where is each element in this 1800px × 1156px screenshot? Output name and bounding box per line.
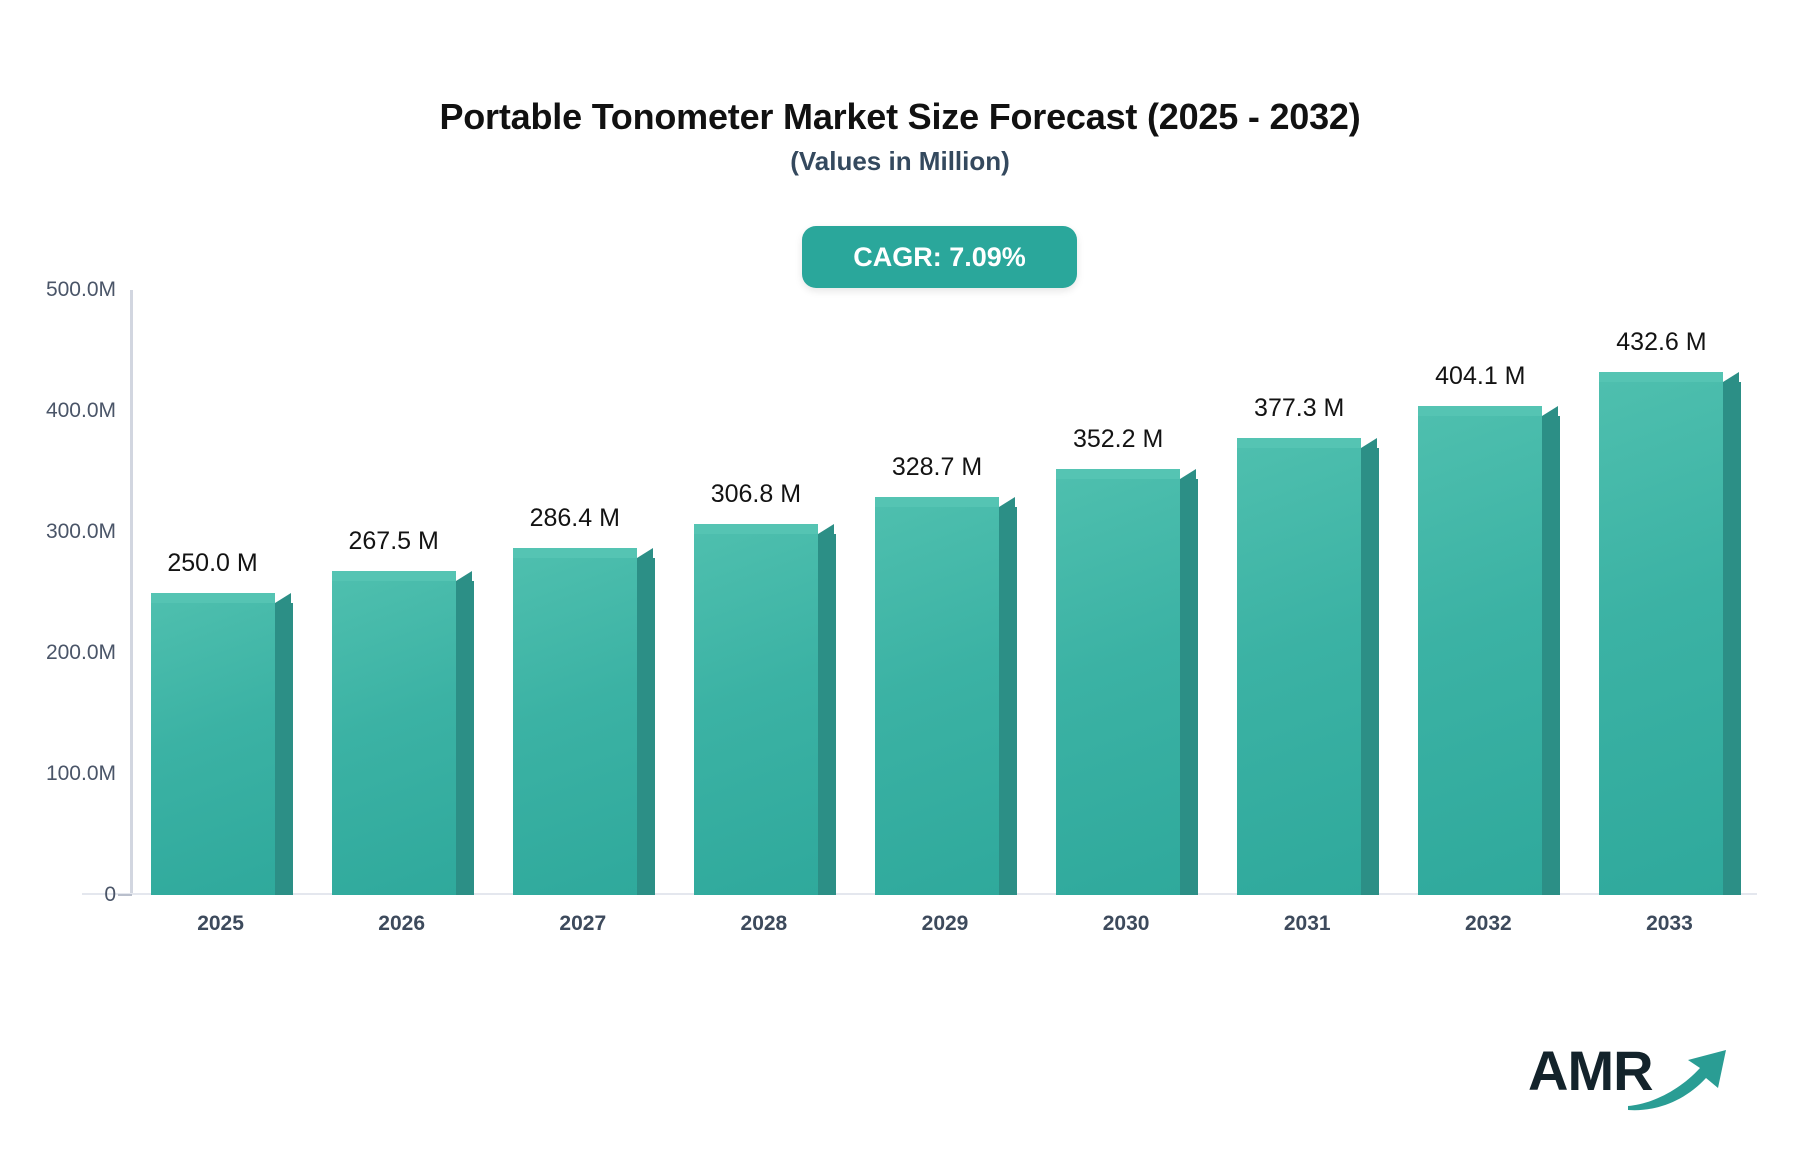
bar[interactable] [1418,406,1542,895]
bar-bevel [1723,372,1739,382]
bar[interactable] [332,571,456,895]
bar-side-face [1542,416,1560,895]
bar-side-face [1723,382,1741,895]
bar[interactable] [875,497,999,895]
bar-top-face [875,497,999,507]
bar-top-face [1418,406,1542,416]
bar-side-face [1361,448,1379,895]
bar-bevel [1361,438,1377,448]
bar-bevel [1542,406,1558,416]
bar-top-face [332,571,456,581]
bar[interactable] [513,548,637,895]
bar-side-face [456,581,474,895]
bar-bevel [1180,469,1196,479]
bar-side-face [275,603,293,896]
bar-side-face [637,558,655,895]
x-axis-tick-label: 2033 [1559,912,1779,936]
amr-logo: AMR [1528,1038,1728,1114]
bar-front-face [1418,416,1542,895]
y-axis-tick-label: 500.0M [8,278,116,302]
bar-side-face [818,534,836,895]
bar-top-face [694,524,818,534]
y-axis-tick-label: 300.0M [8,520,116,544]
bar-value-label: 352.2 M [1008,425,1228,454]
bar-bevel [999,497,1015,507]
bar-value-label: 377.3 M [1189,394,1409,423]
bar-side-face [1180,479,1198,895]
y-axis-tick-label: 200.0M [8,641,116,665]
bar[interactable] [1056,469,1180,895]
y-axis-tick-label: 100.0M [8,762,116,786]
y-axis-tick-label: 0 [8,883,116,907]
bar-value-label: 432.6 M [1551,328,1771,357]
bar-top-face [151,593,275,603]
bar-front-face [1599,382,1723,895]
bar-front-face [151,603,275,896]
bar-side-face [999,507,1017,895]
bar-front-face [1237,448,1361,895]
bar-bevel [456,571,472,581]
bar-value-label: 306.8 M [646,480,866,509]
bar[interactable] [694,524,818,895]
bar-front-face [513,558,637,895]
rising-arrow-icon [1626,1046,1730,1112]
bar-value-label: 404.1 M [1370,362,1590,391]
bar-front-face [694,534,818,895]
bar-bevel [818,524,834,534]
bar-value-label: 286.4 M [465,504,685,533]
bar-top-face [513,548,637,558]
bar-front-face [875,507,999,895]
bar-top-face [1237,438,1361,448]
bar-bevel [637,548,653,558]
bar[interactable] [1599,372,1723,895]
bar-front-face [332,581,456,895]
bar-top-face [1056,469,1180,479]
bar-front-face [1056,479,1180,895]
bar[interactable] [151,593,275,896]
bar[interactable] [1237,438,1361,895]
y-axis-tick-label: 400.0M [8,399,116,423]
bar-top-face [1599,372,1723,382]
bar-bevel [275,593,291,603]
bar-value-label: 328.7 M [827,453,1047,482]
